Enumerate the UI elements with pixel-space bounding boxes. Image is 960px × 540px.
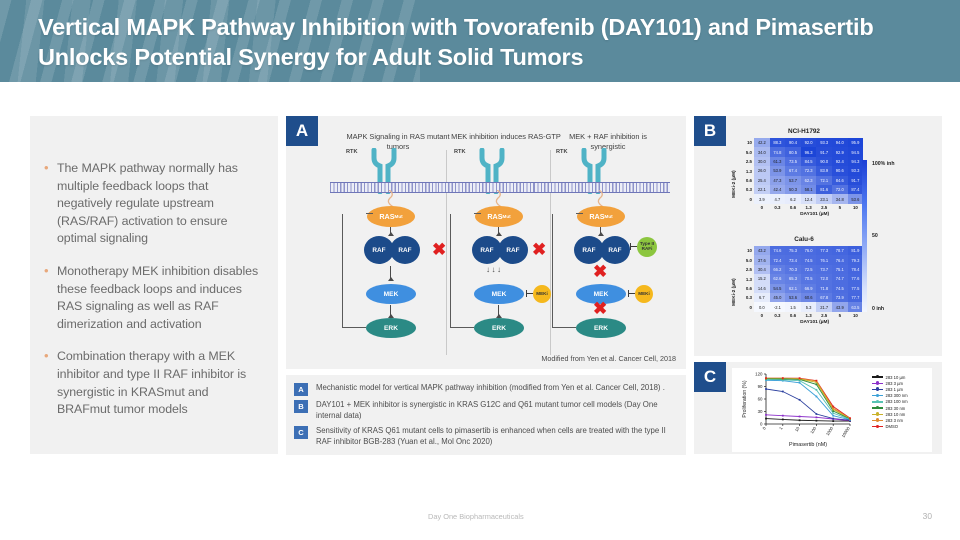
red-x-blocked-raf-mek-icon: ✖ [593,263,607,280]
legend-label: 283 3 µm [886,381,904,386]
heatmap-cell: 66.2 [770,265,786,274]
heatmap-grid: 43.274.675.376.077.378.781.937.672.473.4… [754,246,863,312]
legend-swatch [872,414,883,415]
type2-rafi-drug-node: Type II RAFi [637,237,657,257]
heatmap-y-tick: 5.0 [738,258,752,263]
heatmap-cell: 81.9 [848,246,864,255]
heatmap-cell: 0.0 [754,302,770,311]
svg-text:0: 0 [761,425,767,430]
heatmap-x-tick: 0.6 [785,313,801,318]
bullet-text: The MAPK pathway normally has multiple f… [57,160,262,248]
heatmap-cell: 54.5 [770,284,786,293]
heatmap-x-tick: 10 [848,313,864,318]
legend-label: 283 1 µm [886,387,904,392]
svg-text:Pimasertib (nM): Pimasertib (nM) [789,442,827,448]
heatmap-cell: 76.0 [801,246,817,255]
heatmap-cell: 43.2 [754,246,770,255]
legend-label: 283 3 nm [886,418,903,423]
dose-response-plot-area: 03060901200110100100010000Pimasertib (nM… [732,368,932,452]
heatmap-cell: 79.3 [848,255,864,264]
caption-row-c: C Sensitivity of KRAS Q61 mutant cells t… [294,425,676,448]
svg-text:10: 10 [794,425,801,432]
bullet-icon: • [44,263,57,333]
heatmap-cell: 70.5 [801,274,817,283]
svg-text:120: 120 [755,372,763,377]
legend-item: DMSO [872,424,908,430]
colorbar-label-mid: 50 [872,233,878,239]
meki-drug-node: MEKi [635,285,653,303]
heatmap-cell: 76.4 [832,255,848,264]
legend-label: 283 300 nm [886,393,908,398]
heatmap-cell: 67.8 [816,293,832,302]
svg-text:Proliferation (%): Proliferation (%) [742,380,748,417]
feedback-loop-line [450,214,474,328]
colorbar-label-bottom: 0 inh [872,306,884,312]
legend-swatch [872,383,883,384]
heatmap-cell: 21.7 [816,302,832,311]
legend-swatch [872,395,883,396]
heatmap-cell: 77.5 [848,284,864,293]
bullet-icon: • [44,348,57,418]
caption-text-a: Mechanistic model for vertical MAPK path… [316,382,665,393]
heatmap-cell: -2.1 [770,302,786,311]
heatmap-cell: 75.1 [832,265,848,274]
bullet-text: Combination therapy with a MEK inhibitor… [57,348,262,418]
svg-text:10000: 10000 [840,425,851,438]
arrowhead [388,277,394,281]
footer-brand: Day One Biopharmaceuticals [428,512,524,521]
heatmap-title: Calu-6 [724,236,884,243]
heatmap-cell: 1.5 [785,302,801,311]
heatmap-cell: 30.4 [754,265,770,274]
raf-dimer: RAF RAF [364,236,420,264]
figure-captions-card: A Mechanistic model for vertical MAPK pa… [286,375,686,455]
meki-inhibition-cap [526,290,527,297]
legend-swatch [872,420,883,421]
red-x-blocked-feedback-icon: ✖ [432,241,446,258]
meki-drug-node: MEKi [533,285,551,303]
rtk-label: RTK [556,149,568,155]
ras-node: RASMut [475,206,523,227]
heatmap-x-tick: 2.5 [816,313,832,318]
diagram-credit: Modified from Yen et al. Cancer Cell, 20… [541,354,676,363]
list-item: • Monotherapy MEK inhibition disables th… [44,263,262,333]
legend-swatch [872,407,883,408]
heatmap-y-tick: 0 [738,305,752,310]
heatmap-cell: 77.7 [848,293,864,302]
caption-badge-b: B [294,400,308,413]
heatmap-x-tick: 0 [754,313,770,318]
panel-a-badge: A [286,116,318,146]
bullet-icon: • [44,160,57,248]
heatmap-cell: 77.3 [816,246,832,255]
erk-node: ERK [366,318,416,338]
heatmap-cell: 5.3 [801,302,817,311]
rtk-label: RTK [454,149,466,155]
mek-node: MEK [474,284,524,304]
increased-signal-arrows-icon: ↓↓↓ [486,265,503,274]
heatmap-cell: 63.5 [848,302,864,311]
diagram-column-title-2: MEK inhibition induces RAS-GTP [450,132,562,142]
svg-text:1000: 1000 [825,425,835,436]
svg-text:60: 60 [758,397,763,402]
key-points-card: • The MAPK pathway normally has multiple… [30,116,278,454]
heatmap-y-axis-title: MEKi-2 (µM) [732,278,737,306]
svg-text:90: 90 [758,384,763,389]
raf-node: RAF [498,236,528,264]
feedback-inhibition-tip [474,213,481,214]
heatmap-cell: 77.6 [848,274,864,283]
rafi-inhibition-cap [630,243,631,250]
mek-node: MEK [366,284,416,304]
heatmap-cell: 15.2 [754,274,770,283]
svg-text:30: 30 [758,409,763,414]
heatmap-cell: 62.6 [770,274,786,283]
meki-inhibition-cap [628,290,629,297]
heatmap-cell: 74.6 [770,246,786,255]
heatmap-cell: 45.0 [770,293,786,302]
heatmap-cell: 74.5 [832,284,848,293]
heatmap-cell: 37.6 [754,255,770,264]
heatmap-cell: 76.1 [816,255,832,264]
heatmap-cell: 73.9 [832,293,848,302]
slide-header: Vertical MAPK Pathway Inhibition with To… [0,0,960,82]
heatmap-cell: 72.5 [801,265,817,274]
dose-response-chart: 03060901200110100100010000Pimasertib (nM… [732,368,932,452]
heatmap-cell: 53.6 [785,293,801,302]
red-x-blocked-mek-erk-icon: ✖ [593,300,607,317]
erk-node: ERK [576,318,626,338]
ras-node: RASMut [577,206,625,227]
erk-node: ERK [474,318,524,338]
caption-row-a: A Mechanistic model for vertical MAPK pa… [294,382,676,396]
heatmap-cell: 74.7 [832,274,848,283]
heatmap-cell: 78.7 [832,246,848,255]
raf-dimer: RAF RAF [472,236,528,264]
heatmap-cell: 75.3 [785,246,801,255]
diagram-column-1: RTK RASMut RAF RAF MEK ERK [340,146,444,366]
heatmap-x-axis-title: DAY101 (µM) [760,320,869,325]
heatmap-cell: 74.5 [801,255,817,264]
legend-label: 283 100 nm [886,399,908,404]
caption-text-c: Sensitivity of KRAS Q61 mutant cells to … [316,425,676,448]
legend-swatch [872,389,883,390]
heatmap-y-tick: 2.5 [738,267,752,272]
raf-dimer: RAF RAF [574,236,630,264]
heatmap-cell: 72.4 [770,255,786,264]
legend-label: 283 30 nm [886,406,906,411]
list-item: • Combination therapy with a MEK inhibit… [44,348,262,418]
heatmap-y-tick: 1.3 [738,277,752,282]
rtk-label: RTK [346,149,358,155]
legend-label: 283 10 µm [886,375,906,380]
ras-node: RASMut [367,206,415,227]
panel-c-dose-response: C 03060901200110100100010000Pimasertib (… [694,362,942,454]
heatmap-cell: 78.4 [848,265,864,274]
heatmap-cell: 73.4 [785,255,801,264]
heatmap-cell: 66.9 [801,284,817,293]
heatmap-cell: 60.6 [801,293,817,302]
legend-swatch [872,401,883,402]
feedback-loop-line [552,214,576,328]
heatmap-cell: 14.6 [754,284,770,293]
heatmap-cell: 71.8 [816,284,832,293]
red-x-blocked-feedback-icon: ✖ [532,241,546,258]
caption-row-b: B DAY101 + MEK inhibitor is synergistic … [294,399,676,422]
svg-text:100: 100 [809,425,817,434]
svg-text:1: 1 [778,425,784,430]
panel-a-mechanistic-diagram: A MAPK Signaling in RAS mutant tumors ME… [286,116,686,369]
heatmap-cell: 43.9 [832,302,848,311]
heatmap-y-tick: 10 [738,248,752,253]
caption-badge-a: A [294,383,308,396]
colorbar-label-top: 100% inh [872,161,895,167]
raf-node: RAF [600,236,630,264]
heatmap-cell: 72.0 [816,274,832,283]
heatmap-cell: 73.7 [816,265,832,274]
feedback-inhibition-tip [576,213,583,214]
legend-swatch [872,376,883,377]
heatmap-cell: 6.7 [754,293,770,302]
heatmap-cell: 62.1 [785,284,801,293]
panel-b-synergy-heatmaps: B NCI-H179242.288.390.492.093.394.095.93… [694,116,942,356]
legend-label: DMSO [886,424,899,429]
heatmap-x-tick: 5 [832,313,848,318]
panel-c-badge: C [694,362,726,392]
heatmap-calu-6: Calu-643.274.675.376.077.378.781.937.672… [694,116,942,356]
feedback-loop-line [342,214,366,328]
heatmap-cell: 65.3 [785,274,801,283]
footer-page-number: 30 [923,511,932,521]
heatmap-x-tick: 0.3 [770,313,786,318]
raf-node: RAF [390,236,420,264]
caption-badge-c: C [294,426,308,439]
mapk-pathway-diagram: MAPK Signaling in RAS mutant tumors MEK … [322,120,684,368]
heatmap-x-tick: 1.3 [801,313,817,318]
heatmap-cell: 70.3 [785,265,801,274]
heatmap-y-tick: 0.3 [738,295,752,300]
feedback-inhibition-tip [366,213,373,214]
page-title: Vertical MAPK Pathway Inhibition with To… [38,12,928,72]
legend-swatch [872,426,883,427]
dose-response-legend: 283 10 µm283 3 µm283 1 µm283 300 nm283 1… [872,374,908,430]
heatmap-y-tick: 0.6 [738,286,752,291]
list-item: • The MAPK pathway normally has multiple… [44,160,262,248]
bullet-text: Monotherapy MEK inhibition disables thes… [57,263,262,333]
diagram-column-3: RTK RASMut RAF RAF Type II RAFi ✖ MEK [550,146,654,366]
caption-text-b: DAY101 + MEK inhibitor is synergistic in… [316,399,676,422]
heatmap-colorbar [862,160,867,312]
legend-label: 283 10 nm [886,412,906,417]
